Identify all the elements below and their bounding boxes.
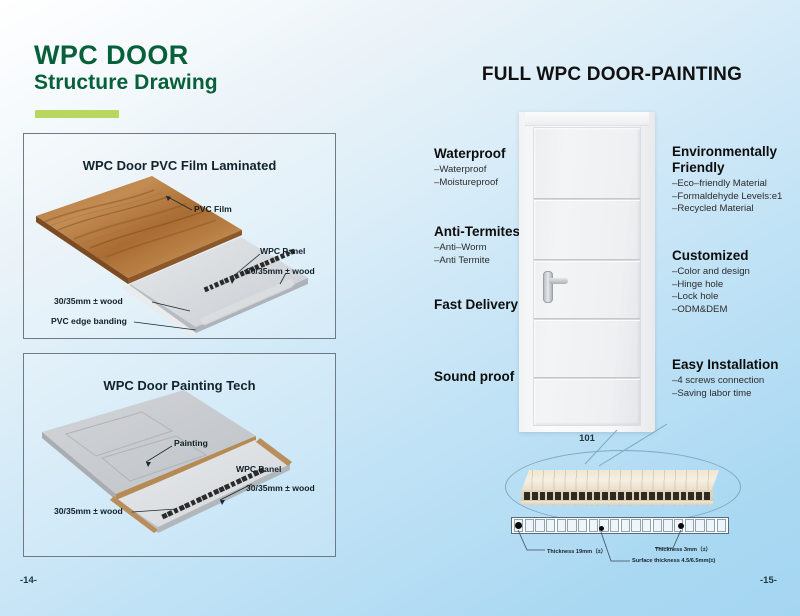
left-header: WPC DOOR Structure Drawing [34,42,218,95]
door-groove [534,318,640,320]
door-handle-plate [543,271,553,303]
feature-waterproof: Waterproof –Waterproof –Moistureproof [434,146,506,189]
label-wood-left-2: 30/35mm ± wood [54,506,123,516]
door-handle-lever [549,278,568,284]
feature-item: –Formaldehyde Levels:e1 [672,191,796,204]
feature-item: –Anti Termite [434,255,520,268]
feature-environmentally-friendly: Environmentally Friendly –Eco–friendly M… [672,144,796,216]
feature-item: –4 screws connection [672,375,779,388]
annotation-thickness-3: Thickness 3mm（±） [655,545,711,553]
feature-item: –ODM&DEM [672,304,750,317]
feature-item: –Recycled Material [672,203,796,216]
feature-sound-proof: Sound proof [434,369,514,385]
panel-hollow-cells [524,492,710,500]
feature-heading: Customized [672,248,750,264]
label-pvc-film: PVC Film [194,204,232,214]
label-wood-right-2: 30/35mm ± wood [246,483,315,493]
page-title: WPC DOOR [34,42,218,70]
door-groove [534,198,640,200]
feature-customized: Customized –Color and design –Hinge hole… [672,248,750,317]
page-number-left: -14- [20,575,37,586]
diagram-box-pvc-film: WPC Door PVC Film Laminated [23,133,336,339]
label-wood-right: 30/35mm ± wood [246,266,315,276]
feature-item: –Hinge hole [672,279,750,292]
feature-list: –Anti–Worm –Anti Termite [434,242,520,268]
label-painting: Painting [174,438,208,448]
annotation-thickness-19: Thickness 19mm（±） [547,547,606,555]
feature-item: –Moistureproof [434,177,506,190]
page-number-right: -15- [760,575,777,586]
annotation-leader-lines [495,528,775,573]
feature-item: –Waterproof [434,164,506,177]
feature-list: –4 screws connection –Saving labor time [672,375,779,401]
panel-base-face [521,501,713,505]
slide-canvas: WPC DOOR Structure Drawing WPC Door PVC … [0,0,800,616]
feature-list: –Eco–friendly Material –Formaldehyde Lev… [672,178,796,216]
feature-item: –Color and design [672,266,750,279]
door-groove [534,259,640,261]
right-page-title: FULL WPC DOOR-PAINTING [452,64,772,86]
door-illustration [519,112,655,432]
feature-easy-installation: Easy Installation –4 screws connection –… [672,357,779,400]
label-pvc-edge-banding: PVC edge banding [51,316,127,326]
door-slab [533,127,641,426]
feature-item: –Eco–friendly Material [672,178,796,191]
door-groove [534,377,640,379]
diagram2-illustration [24,354,333,554]
feature-anti-termites: Anti-Termites –Anti–Worm –Anti Termite [434,224,520,267]
annotation-surface-thickness: Surface thickness 4.5/6.5mm(±) [632,558,715,564]
label-wpc-panel-2: WPC Panel [236,464,281,474]
feature-heading: Environmentally Friendly [672,144,796,176]
feature-heading: Fast Delivery [434,297,518,313]
feature-heading: Anti-Termites [434,224,520,240]
accent-bar [35,110,119,118]
feature-heading: Easy Installation [672,357,779,373]
feature-item: –Saving labor time [672,388,779,401]
feature-item: –Lock hole [672,291,750,304]
feature-item: –Anti–Worm [434,242,520,255]
page-subtitle: Structure Drawing [34,71,218,95]
feature-fast-delivery: Fast Delivery [434,297,518,313]
wpc-panel-closeup [521,470,719,506]
door-lintel [525,112,649,126]
feature-heading: Waterproof [434,146,506,162]
label-wpc-panel: WPC Panel [260,246,305,256]
feature-heading: Sound proof [434,369,514,385]
label-wood-left: 30/35mm ± wood [54,296,123,306]
feature-list: –Color and design –Hinge hole –Lock hole… [672,266,750,317]
diagram-box-painting-tech: WPC Door Painting Tech [23,353,336,557]
feature-list: –Waterproof –Moistureproof [434,164,506,190]
